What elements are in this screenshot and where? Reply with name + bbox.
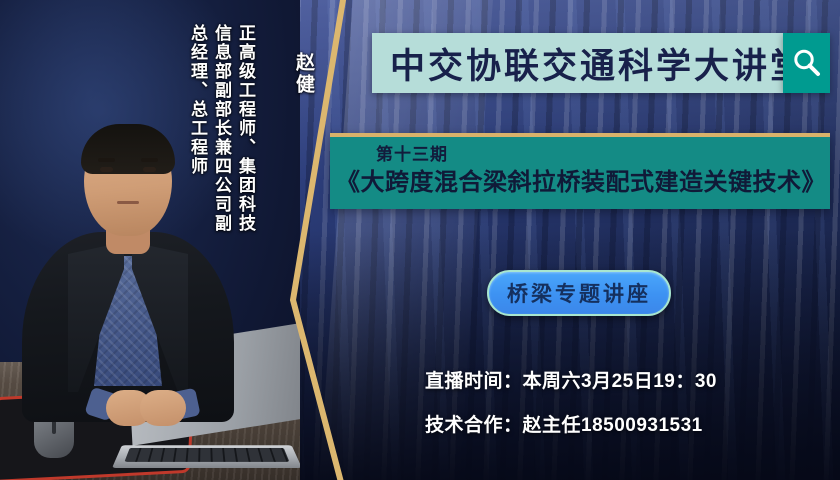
eyebrow-right [141,158,158,162]
program-title-text: 中交协联交通科学大讲堂 [372,38,808,89]
speaker-credential-line-2: 信息部副部长兼四公司副 [213,24,230,233]
hair [81,124,175,174]
speaker-panel [0,0,300,480]
search-icon [791,47,823,79]
mouth [117,201,139,204]
lecture-subtitle-band: 第十三期 《大跨度混合梁斜拉桥装配式建造关键技术》 [330,133,830,209]
program-title-bar: 中交协联交通科学大讲堂 [372,33,783,93]
speaker-credential-line-3: 总经理、总工程师 [189,24,206,176]
speaker-photo [0,120,300,480]
topic-badge-label: 桥梁专题讲座 [507,278,651,308]
eye-left [100,167,113,172]
issue-number: 第十三期 [376,142,830,168]
eye-right [143,167,156,172]
topic-badge[interactable]: 桥梁专题讲座 [487,270,671,316]
speaker-credential-line-1: 正高级工程师、集团科技 [237,24,254,233]
keyboard-keys [124,448,289,462]
contact-info: 技术合作：赵主任18500931531 [425,410,703,437]
search-button[interactable] [783,33,830,93]
broadcast-time: 直播时间：本周六3月25日19：30 [425,366,717,393]
eyebrow-left [98,158,115,162]
lecture-title: 《大跨度混合梁斜拉桥装配式建造关键技术》 [336,168,830,198]
laptop-keyboard [112,445,300,468]
poster-root: 赵健 正高级工程师、集团科技 信息部副部长兼四公司副 总经理、总工程师 中交协联… [0,0,840,480]
speaker-name: 赵健 [294,52,313,96]
hand-right [140,390,186,426]
